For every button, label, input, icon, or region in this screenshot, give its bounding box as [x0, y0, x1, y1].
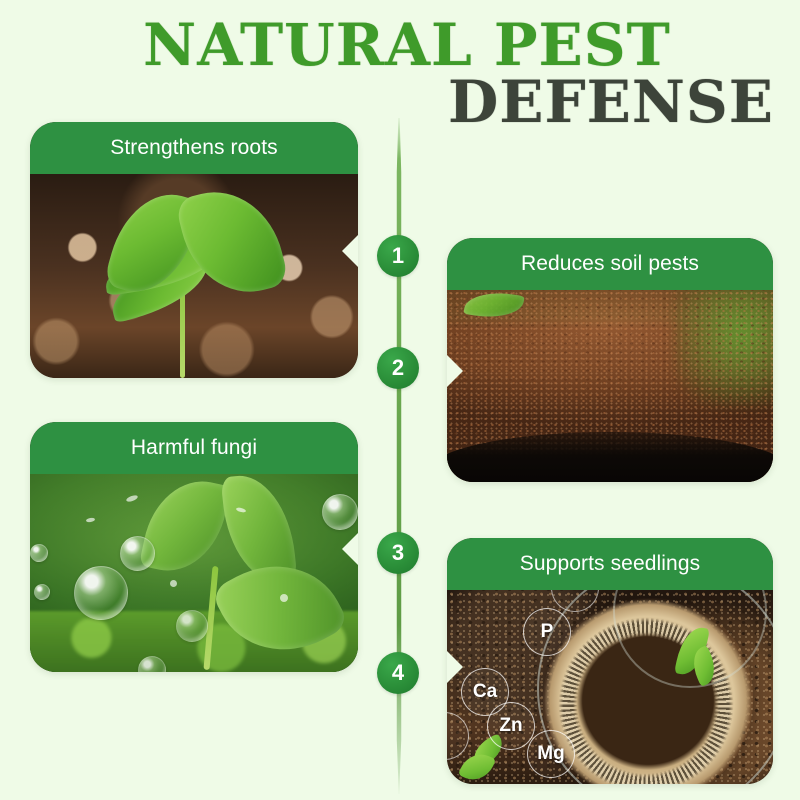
mineral-badge-mg: Mg — [527, 730, 575, 778]
infographic-canvas: NATURAL PEST DEFENSE 1 2 3 4 Strengthens… — [0, 0, 800, 800]
card-strengthens-roots-header: Strengthens roots — [30, 122, 358, 174]
card-harmful-fungi-image — [30, 474, 358, 672]
water-droplet-bottom — [176, 610, 208, 642]
speck-4 — [280, 594, 288, 602]
mineral-badge-p: P — [523, 608, 571, 656]
water-droplet-small-left — [30, 544, 48, 562]
timeline-node-2-label: 2 — [392, 357, 404, 379]
card-strengthens-roots-image — [30, 174, 358, 378]
card-reduces-soil-pests-header: Reduces soil pests — [447, 238, 773, 290]
mineral-badge-ca-label: Ca — [473, 681, 497, 703]
title-line-primary: NATURAL PEST — [0, 18, 800, 73]
card-supports-seedlings-image: P Ca Zn Mg — [447, 590, 773, 784]
speck-5 — [170, 580, 177, 587]
card-harmful-fungi[interactable]: Harmful fungi — [30, 422, 358, 672]
card-strengthens-roots[interactable]: Strengthens roots — [30, 122, 358, 378]
card-supports-seedlings-title: Supports seedlings — [520, 552, 700, 576]
timeline-node-3[interactable]: 3 — [377, 532, 419, 574]
card-supports-seedlings-header: Supports seedlings — [447, 538, 773, 590]
water-droplet-right — [322, 494, 358, 530]
water-droplet-tiny — [34, 584, 50, 600]
timeline-node-4-label: 4 — [392, 662, 404, 684]
timeline-node-4[interactable]: 4 — [377, 652, 419, 694]
title-line-secondary: DEFENSE — [0, 75, 800, 130]
water-droplet-large — [74, 566, 128, 620]
timeline-node-1[interactable]: 1 — [377, 235, 419, 277]
card-harmful-fungi-title: Harmful fungi — [131, 436, 257, 460]
mineral-badge-zn-label: Zn — [499, 715, 522, 737]
card-supports-seedlings[interactable]: P Ca Zn Mg Supports seedlings — [447, 538, 773, 784]
timeline-node-3-label: 3 — [392, 542, 404, 564]
mineral-badge-zn: Zn — [487, 702, 535, 750]
water-droplet-medium — [120, 536, 155, 571]
card-reduces-soil-pests[interactable]: Reduces soil pests — [447, 238, 773, 482]
card-reduces-soil-pests-title: Reduces soil pests — [521, 252, 699, 276]
card-harmful-fungi-header: Harmful fungi — [30, 422, 358, 474]
card-reduces-soil-pests-image — [447, 290, 773, 482]
card-strengthens-roots-title: Strengthens roots — [110, 136, 277, 160]
mineral-badge-p-label: P — [541, 621, 554, 643]
mineral-badge-mg-label: Mg — [537, 743, 564, 765]
timeline-node-1-label: 1 — [392, 245, 404, 267]
page-title: NATURAL PEST DEFENSE — [0, 18, 800, 129]
timeline-node-2[interactable]: 2 — [377, 347, 419, 389]
